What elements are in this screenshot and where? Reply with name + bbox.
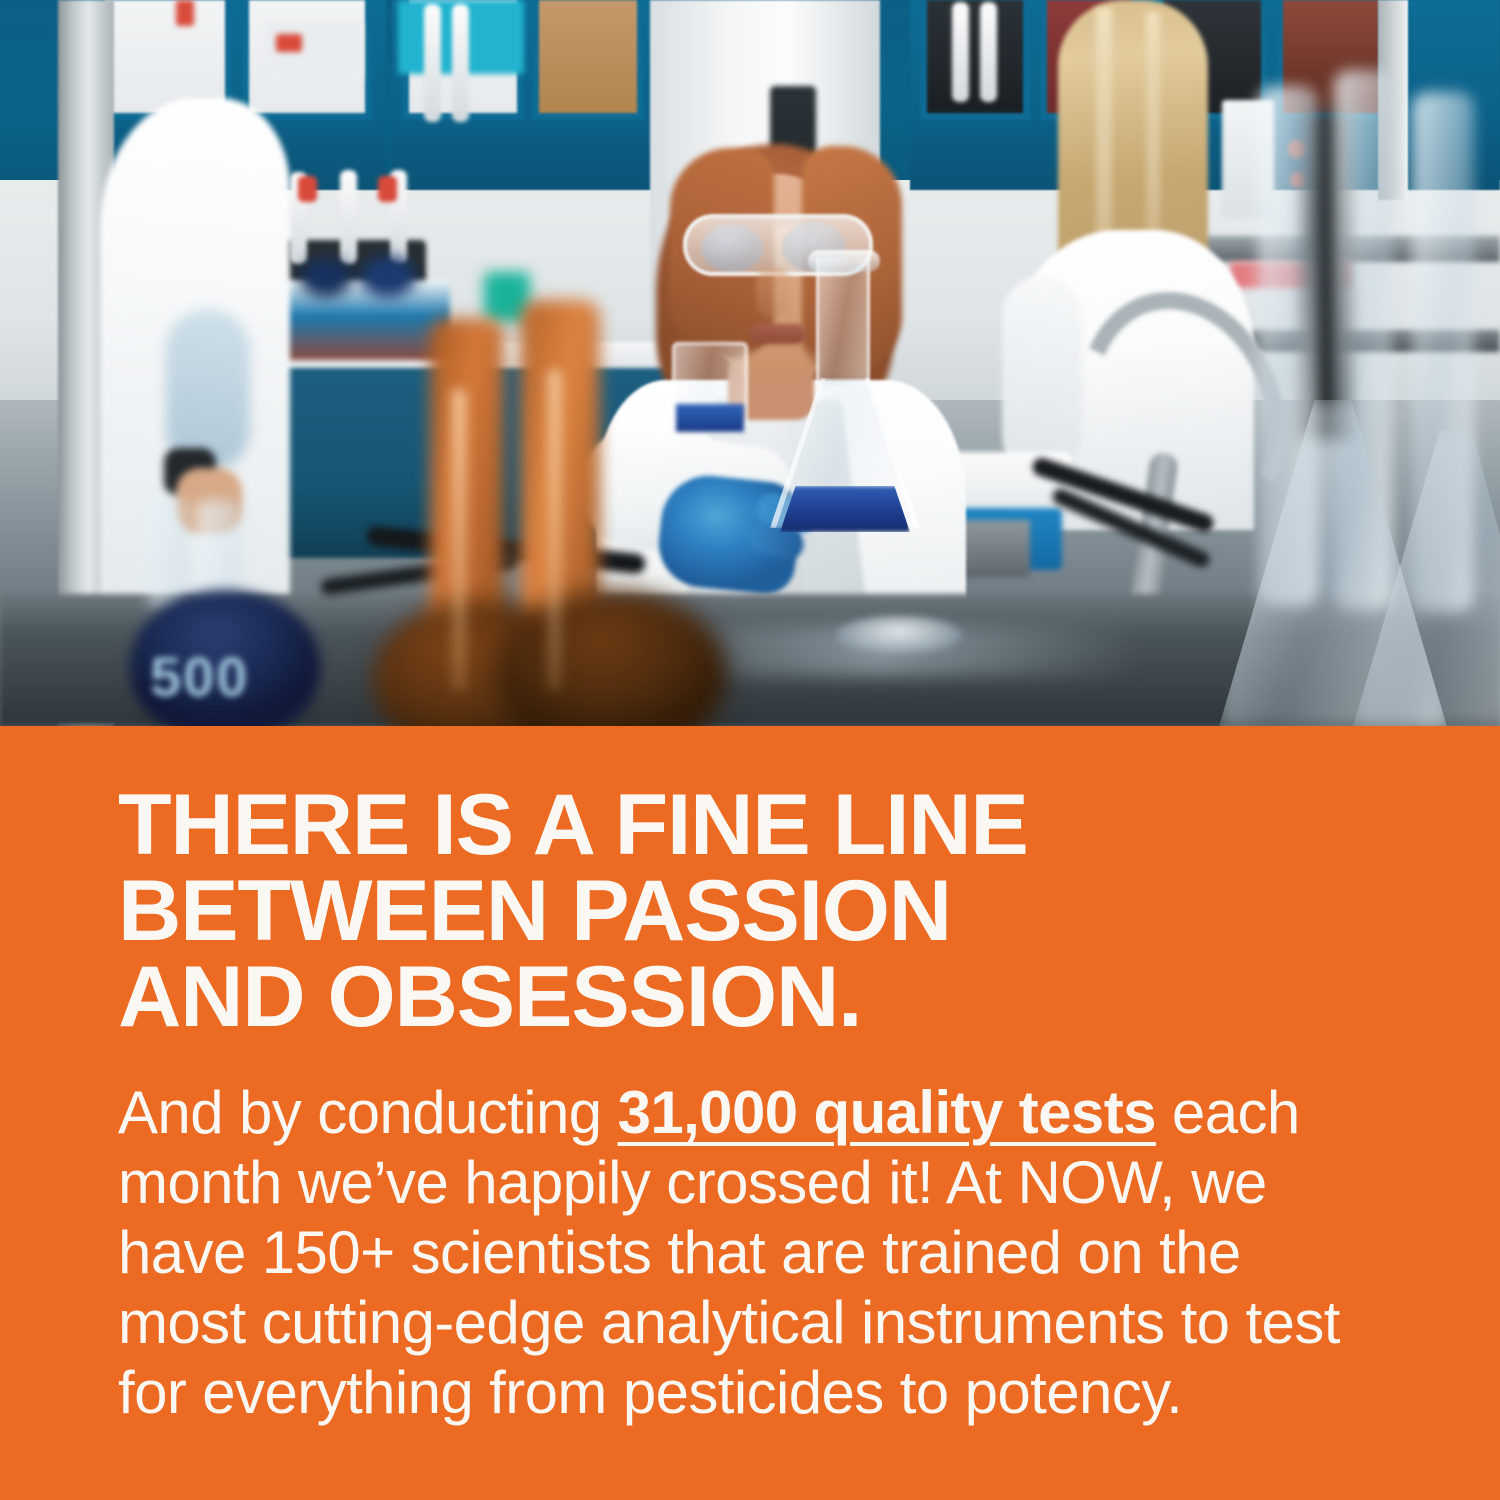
coat-collar xyxy=(166,310,250,470)
red-label xyxy=(176,0,194,26)
coat-shoulder xyxy=(1002,276,1082,476)
cabinet-panel xyxy=(532,0,644,120)
headline-line-2: BETWEEN PASSION xyxy=(118,868,1424,954)
promotional-card: 500 THERE IS A FINE LINE BETWEEN PASSION… xyxy=(0,0,1500,1500)
flask-lip xyxy=(808,250,880,272)
red-label xyxy=(276,34,302,52)
flask-neck xyxy=(816,258,870,386)
orange-text-band: THERE IS A FINE LINE BETWEEN PASSION AND… xyxy=(0,726,1500,1500)
body-paragraph: And by conducting 31,000 quality tests e… xyxy=(118,1078,1380,1428)
glass-highlight xyxy=(548,370,561,690)
emphasized-stat: 31,000 quality tests xyxy=(618,1079,1156,1146)
pipette xyxy=(952,2,969,102)
pipette xyxy=(452,4,469,122)
sample-vial xyxy=(300,258,352,298)
flask-liquid xyxy=(780,486,910,532)
sample-vial xyxy=(360,256,416,298)
headline-line-1: THERE IS A FINE LINE xyxy=(118,782,1424,868)
laboratory-photo: 500 xyxy=(0,0,1500,726)
flask-neck xyxy=(148,498,188,610)
headline: THERE IS A FINE LINE BETWEEN PASSION AND… xyxy=(118,782,1424,1040)
beaker-liquid xyxy=(676,404,744,432)
erlenmeyer-flask-icon xyxy=(770,258,920,548)
pipette xyxy=(424,4,441,122)
flask-volume-label: 500 xyxy=(150,644,270,702)
pipette-red-tip xyxy=(378,176,397,202)
headline-line-3: AND OBSESSION. xyxy=(118,954,1424,1040)
glass-highlight xyxy=(452,390,466,690)
petri-dish xyxy=(836,616,962,654)
pipette xyxy=(340,170,357,264)
body-text-part-1: And by conducting xyxy=(118,1079,618,1146)
pipette xyxy=(980,2,997,102)
